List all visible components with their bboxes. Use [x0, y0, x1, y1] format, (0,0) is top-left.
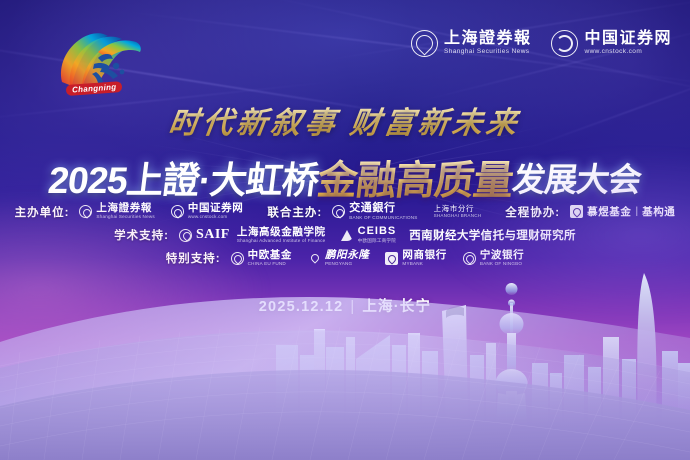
- partner-name-secondary: 基构通: [642, 204, 675, 219]
- partner-row-special: 特别支持: 中欧基金 CHINA EU FUND 鹏阳永隆 PENGYANG: [166, 250, 524, 267]
- partner-name-cn: 慕煜基金: [587, 204, 631, 219]
- partner-row-organizers: 主办单位: 上海證券報 Shanghai Securities News 中国证…: [15, 203, 676, 220]
- partner-name-en: BANK OF COMMUNICATIONS: [349, 216, 417, 221]
- partner-logo-pengyang: 鹏阳永隆 PENGYANG: [308, 250, 369, 267]
- partner-section: 主办单位: 上海證券報 Shanghai Securities News 中国证…: [0, 203, 690, 267]
- square-icon: [570, 205, 583, 218]
- partner-logo-bocom: 交通銀行 BANK OF COMMUNICATIONS: [332, 203, 417, 220]
- ningbo-icon: [463, 252, 476, 265]
- wave-circle-icon: [79, 205, 92, 218]
- partner-logo-bank-of-ningbo: 宁波银行 BANK OF NINGBO: [463, 250, 524, 267]
- partner-name-cn: 上海高级金融学院: [237, 227, 326, 238]
- ceibs-house-icon: [341, 229, 354, 242]
- partner-name-cn: 宁波银行: [480, 250, 524, 261]
- logo-shanghai-securities-news: 上海證券報 Shanghai Securities News: [411, 30, 532, 57]
- partner-name-cn: 上海證券報: [96, 203, 154, 214]
- partner-label-academic: 学术支持:: [114, 227, 169, 243]
- spiral-circle-icon: [551, 30, 578, 57]
- partner-name-en: PENGYANG: [325, 262, 369, 267]
- bocom-icon: [332, 205, 345, 218]
- partner-name-en: CHINA EU FUND: [248, 262, 292, 267]
- event-date-location: 2025.12.12|上海·长宁: [0, 295, 690, 316]
- partner-logo-cnstock: 中国证券网 www.cnstock.com: [171, 203, 244, 220]
- partner-name-en: www.cnstock.com: [188, 215, 244, 220]
- partner-name-saif: SAIF: [196, 227, 230, 243]
- partner-label-special: 特别支持:: [166, 250, 221, 266]
- partner-name-en: Shanghai Securities News: [96, 215, 154, 220]
- wave-circle-icon: [411, 30, 438, 57]
- partner-name-ceibs-cn: 中欧国际工商学院: [358, 239, 397, 244]
- partner-logo-bocom-branch: 上海市分行 SHANGHAI BRANCH: [434, 205, 482, 219]
- partner-logo-fund: 慕煜基金: [570, 204, 631, 219]
- title-part-prefix: 2025上證·大虹桥: [45, 150, 321, 204]
- dot-mesh-grid: [0, 300, 690, 460]
- poster-main-title: 2025上證·大虹桥金融高质量发展大会: [0, 148, 690, 206]
- press-name-cn: 中国证券网: [584, 31, 672, 48]
- partner-divider: |: [636, 206, 639, 217]
- s-bolt-icon: [308, 252, 321, 265]
- changning-district-logo: Changning: [52, 22, 144, 98]
- partner-branch-en: SHANGHAI BRANCH: [434, 214, 482, 219]
- partner-name-ceibs: CEIBS: [358, 226, 397, 238]
- event-date: 2025.12.12: [259, 299, 344, 315]
- partner-name-en: MYBANK: [402, 262, 446, 267]
- partner-row-academic: 学术支持: SAIF 上海高级金融学院 Shanghai Advanced In…: [114, 226, 576, 243]
- saif-seal-icon: [179, 229, 192, 242]
- poster-tagline: 时代新叙事 财富新未来: [0, 98, 690, 142]
- m-square-icon: [385, 252, 398, 265]
- partner-logo-ceibs: CEIBS 中欧国际工商学院: [341, 226, 397, 243]
- partner-name-cn: 中国证券网: [188, 203, 244, 214]
- partner-name-en: BANK OF NINGBO: [480, 262, 524, 267]
- press-logo-group: 上海證券報 Shanghai Securities News 中国证券网 www…: [411, 30, 672, 57]
- partner-label-coordinator: 全程协办:: [505, 204, 560, 220]
- spiral-circle-icon: [171, 205, 184, 218]
- logo-cnstock: 中国证券网 www.cnstock.com: [551, 30, 672, 57]
- title-part-highlight: 金融高质量: [315, 148, 517, 206]
- press-name-en: Shanghai Securities News: [444, 49, 532, 56]
- partner-name-cn: 鹏阳永隆: [325, 250, 369, 261]
- date-separator: |: [350, 299, 355, 315]
- event-location: 上海·长宁: [362, 299, 431, 315]
- partner-logo-saif-cn: 上海高级金融学院 Shanghai Advanced Institute of …: [237, 227, 326, 244]
- partner-name-cn: 中欧基金: [248, 250, 292, 261]
- partner-label-host: 主办单位:: [15, 204, 70, 220]
- press-name-cn: 上海證券報: [444, 31, 532, 48]
- press-name-en: www.cnstock.com: [584, 49, 672, 56]
- partner-logo-saif: SAIF: [179, 227, 230, 243]
- event-poster: Changning 上海證券報 Shanghai Securities News…: [0, 0, 690, 460]
- c-circle-icon: [231, 252, 244, 265]
- partner-logo-mybank: 网商银行 MYBANK: [385, 250, 446, 267]
- partner-label-coorganizer: 联合主办:: [267, 204, 322, 220]
- partner-logo-ssn: 上海證券報 Shanghai Securities News: [79, 203, 154, 220]
- partner-name-cn: 交通銀行: [349, 203, 417, 215]
- partner-name-cn: 网商银行: [402, 250, 446, 261]
- title-part-suffix: 发展大会: [510, 153, 644, 201]
- partner-branch-cn: 上海市分行: [434, 205, 482, 213]
- partner-name-en: Shanghai Advanced Institute of Finance: [237, 239, 326, 244]
- partner-name-swufe: 西南财经大学信托与理财研究所: [409, 227, 576, 243]
- shanghai-skyline: [270, 267, 690, 432]
- partner-logo-zhongou-fund: 中欧基金 CHINA EU FUND: [231, 250, 292, 267]
